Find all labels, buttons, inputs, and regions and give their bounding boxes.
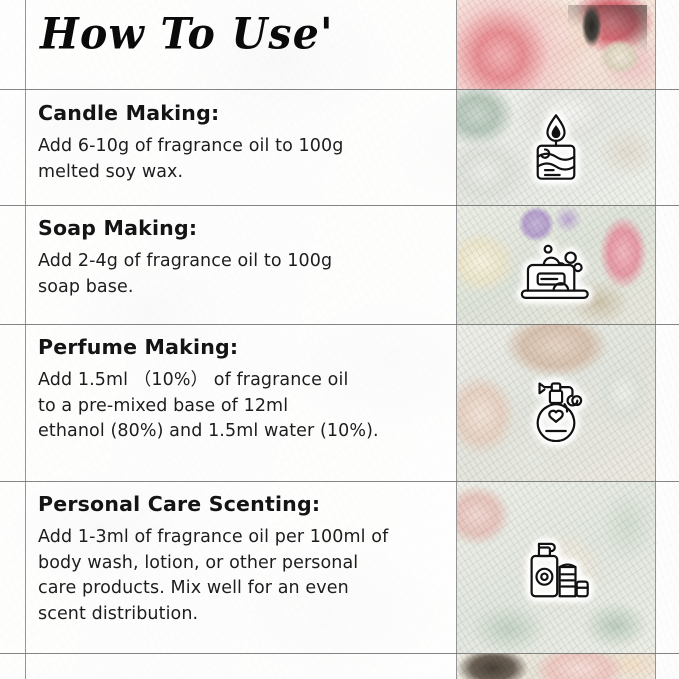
section-body-soap-making: Add 2-4g of fragrance oil to 100g soap b… [38,249,450,300]
engraving-lines [457,653,655,679]
photo-band-candle [457,89,655,205]
divider-after-title [0,89,679,90]
divider-after-personal-care [0,653,679,654]
how-to-use-infographic: How To Use' Candle Making: Add 6-10g of … [0,0,679,679]
engraving-lines [457,0,655,89]
right-margin-rule [655,0,656,679]
section-personal-care-scenting: Personal Care Scenting: Add 1-3ml of fra… [38,492,450,627]
section-body-personal-care-scenting: Add 1-3ml of fragrance oil per 100ml of … [38,525,450,627]
section-soap-making: Soap Making: Add 2-4g of fragrance oil t… [38,216,450,300]
candle-icon [513,104,599,190]
section-body-perfume-making: Add 1.5ml （10%） of fragrance oil to a pr… [38,368,450,445]
image-column [457,0,655,679]
photo-band-perfume [457,324,655,481]
photo-band-personal-care [457,481,655,653]
soap-bar-icon [513,222,599,308]
right-page-margin [655,0,679,679]
left-margin-rule [25,0,26,679]
section-heading-soap-making: Soap Making: [38,216,450,240]
section-heading-candle-making: Candle Making: [38,101,450,125]
section-heading-personal-care-scenting: Personal Care Scenting: [38,492,450,516]
divider-after-soap [0,324,679,325]
section-heading-perfume-making: Perfume Making: [38,335,450,359]
divider-after-candle [0,205,679,206]
image-column-rule [456,0,457,679]
section-perfume-making: Perfume Making: Add 1.5ml （10%） of fragr… [38,335,450,445]
perfume-bottle-icon [513,360,599,446]
photo-band-still-life [457,653,655,679]
text-column: How To Use' Candle Making: Add 6-10g of … [0,0,457,679]
divider-after-perfume [0,481,679,482]
section-body-candle-making: Add 6-10g of fragrance oil to 100g melte… [38,134,450,185]
photo-band-soap [457,205,655,324]
photo-band-roses [457,0,655,89]
section-candle-making: Candle Making: Add 6-10g of fragrance oi… [38,101,450,185]
personal-care-products-icon [513,524,599,610]
page-title: How To Use' [40,8,334,59]
